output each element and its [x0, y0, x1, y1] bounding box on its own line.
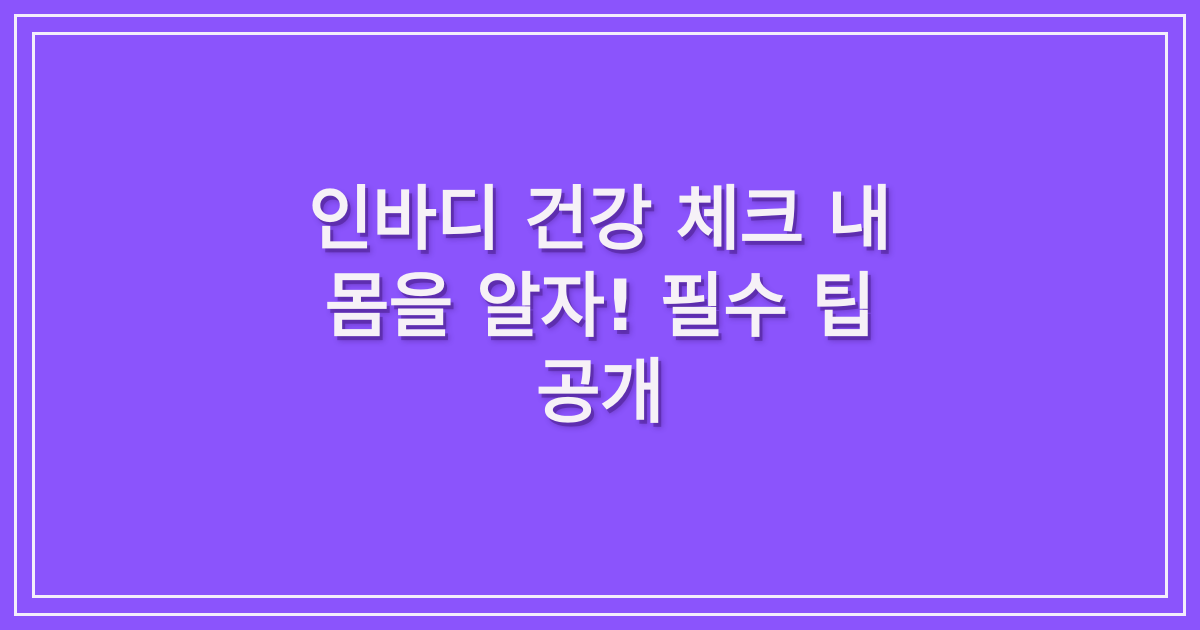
poster-canvas: 인바디 건강 체크 내 몸을 알자! 필수 팁 공개 — [0, 0, 1200, 630]
poster-title: 인바디 건강 체크 내 몸을 알자! 필수 팁 공개 — [250, 176, 950, 436]
title-block: 인바디 건강 체크 내 몸을 알자! 필수 팁 공개 — [0, 0, 1200, 630]
